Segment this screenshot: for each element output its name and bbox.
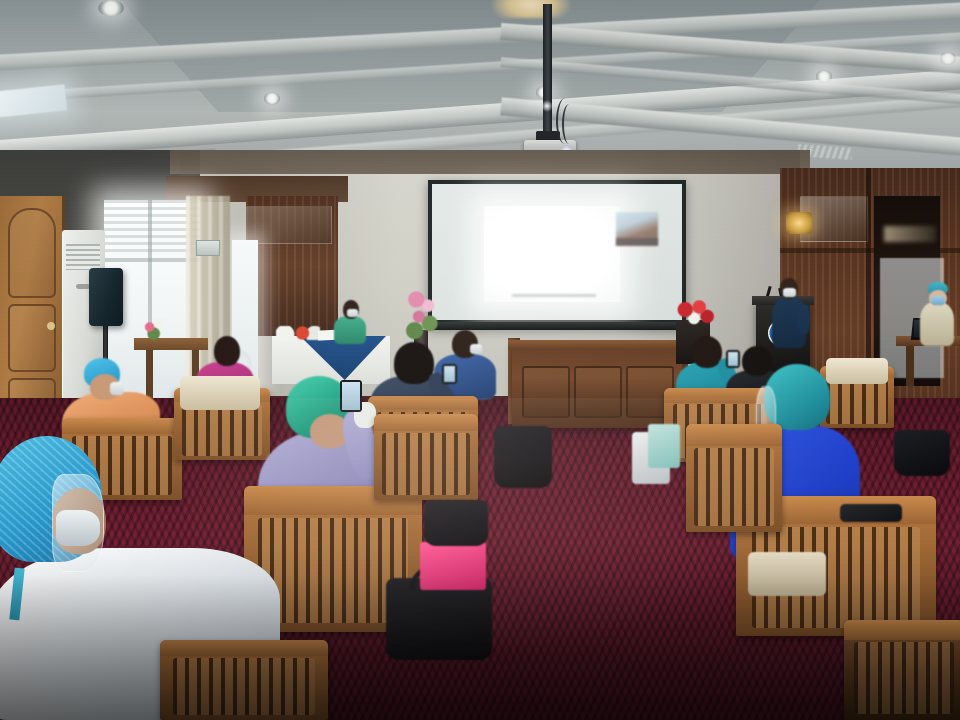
left-glass-cabinet (246, 206, 332, 244)
projected-slide (484, 206, 620, 302)
door-panel-middle (8, 304, 56, 372)
attendee-plaid-phone[interactable] (442, 364, 457, 384)
phone-screen (444, 366, 455, 382)
left-flower-arrangement (136, 312, 170, 342)
bench-top-rail (508, 340, 686, 350)
wall-sconce-light (786, 212, 812, 234)
door-handle[interactable] (47, 322, 55, 330)
presenter-mask (783, 288, 796, 297)
recessed-downlight-left (98, 0, 124, 16)
photo-vignette (0, 398, 960, 720)
presenter-at-podium (770, 278, 812, 348)
speaker-at-table-body (334, 316, 366, 344)
projector-mount-pole (543, 4, 552, 138)
recessed-downlight-center (264, 92, 280, 105)
slide-thumbnail-caption-bar (616, 238, 658, 245)
door-panel-upper (8, 208, 56, 298)
attendee-magenta-head (214, 336, 240, 366)
projector-indicator-light (541, 100, 553, 112)
attendee-orange-mask (110, 382, 124, 395)
av-operator-mask (931, 296, 945, 305)
speaker-at-table (334, 300, 366, 342)
projection-screen-bottom-bar (428, 322, 686, 330)
av-operator-body (920, 302, 954, 346)
seminar-room-photo (0, 0, 960, 720)
recessed-downlight-far-right (816, 70, 832, 83)
ac-brand-badge (76, 284, 90, 289)
wall-sign (196, 240, 220, 256)
right-side-table-leg (906, 346, 914, 386)
slide-text-line (512, 294, 596, 297)
speaker-at-table-mask (347, 309, 358, 317)
presenter-arm (798, 304, 810, 334)
head-table-items (276, 326, 320, 340)
red-floral-arrangement (672, 296, 716, 330)
av-operator-standing (918, 282, 958, 348)
projector-cable-2 (562, 104, 576, 144)
pa-speaker (89, 268, 123, 326)
doorway-light-glow (884, 226, 936, 242)
chandelier-edge (492, 0, 570, 18)
attendee-blue-shirt-mask (470, 344, 482, 354)
ac-grille (66, 244, 100, 270)
recessed-downlight-corner (940, 52, 956, 65)
